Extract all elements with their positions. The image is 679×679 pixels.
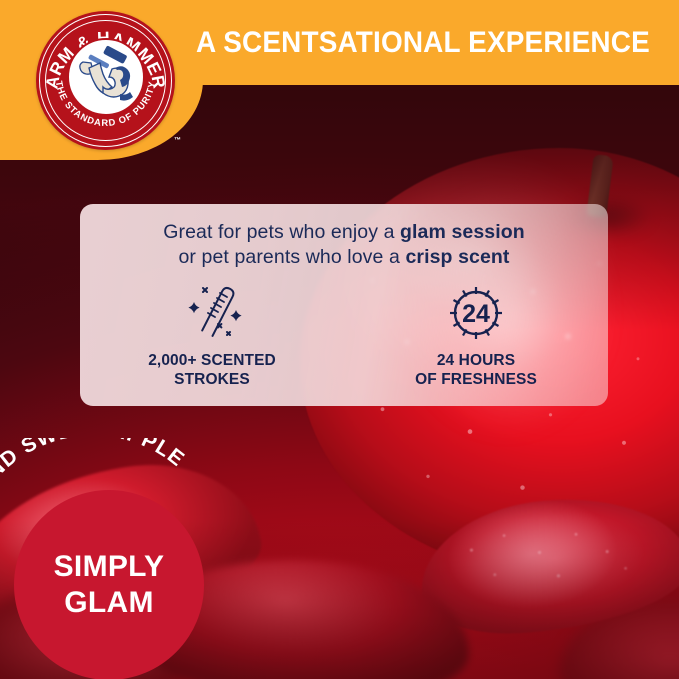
headline-line-1-bold: glam session	[400, 221, 525, 243]
feature-label: 2,000+ SCENTED STROKES	[148, 351, 276, 389]
headline-line-1: Great for pets who enjoy a glam session	[80, 220, 608, 245]
svg-text:THE STANDARD OF PURITY: THE STANDARD OF PURITY	[54, 80, 158, 128]
badge-title-line-2: GLAM	[64, 585, 154, 621]
arm-and-hammer-logo: ARM & HAMMER	[36, 11, 175, 150]
badge-title: SIMPLY GLAM	[14, 490, 204, 679]
logo-tagline-arc-text: THE STANDARD OF PURITY	[36, 11, 175, 150]
headline-line-2-bold: crisp scent	[405, 246, 509, 268]
clock-value: 24	[462, 300, 490, 328]
feature-label-line-1: 2,000+ SCENTED	[148, 351, 276, 370]
card-headline: Great for pets who enjoy a glam session …	[80, 204, 608, 270]
feature-label-line-2: STROKES	[148, 370, 276, 389]
headline-line-2: or pet parents who love a crisp scent	[80, 245, 608, 270]
header-title: A SCENTSATIONAL EXPERIENCE	[196, 0, 650, 85]
badge-title-line-1: SIMPLY	[54, 549, 165, 585]
feature-label-line-2: OF FRESHNESS	[415, 370, 537, 389]
feature-label-line-1: 24 HOURS	[415, 351, 537, 370]
scent-badge: ROSE AND SWEET APPLE SIMPLY GLAM	[0, 438, 258, 679]
feature-label: 24 HOURS OF FRESHNESS	[415, 351, 537, 389]
headline-line-2-plain: or pet parents who love a	[178, 246, 405, 268]
feature-list: 2,000+ SCENTED STROKES	[80, 282, 608, 389]
logo-tagline-text: THE STANDARD OF PURITY	[54, 80, 158, 128]
headline-line-1-plain: Great for pets who enjoy a	[163, 221, 400, 243]
logo-trademark: ™	[174, 137, 181, 144]
product-marketing-image: A SCENTSATIONAL EXPERIENCE ARM & HAMMER	[0, 0, 679, 679]
feature-icon-wrapper	[176, 282, 248, 344]
benefits-card: Great for pets who enjoy a glam session …	[80, 204, 608, 406]
feature-icon-wrapper: 24	[445, 282, 507, 344]
brush-with-sparkles-icon	[176, 284, 248, 342]
clock-24-hours-icon: 24	[445, 282, 507, 344]
feature-24-hours-freshness: 24 24 HOURS OF FRESHNESS	[344, 282, 608, 389]
feature-scented-strokes: 2,000+ SCENTED STROKES	[80, 282, 344, 389]
